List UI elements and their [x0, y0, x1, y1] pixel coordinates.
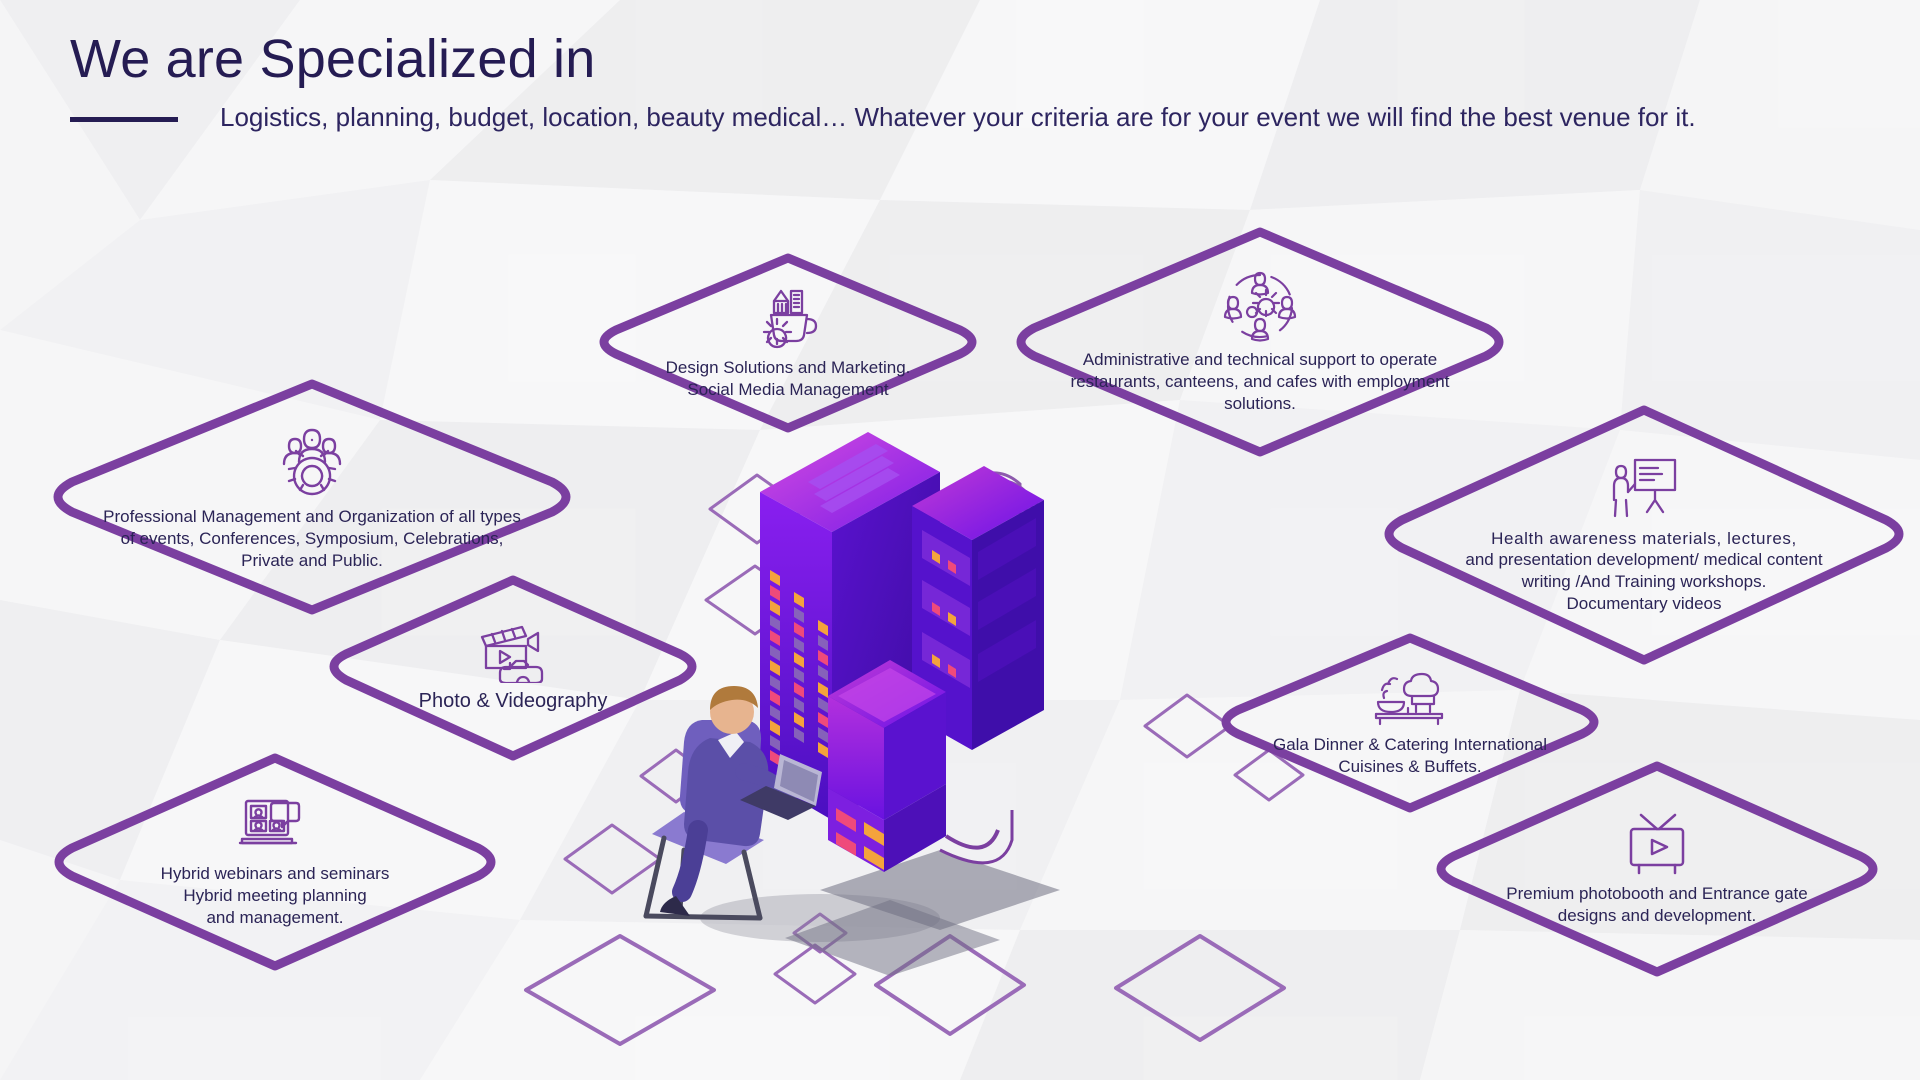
people-gear-icon: [273, 422, 351, 500]
clapperboard-camera-icon: [476, 621, 550, 683]
card-content: Premium photobooth and Entrance gate des…: [1422, 811, 1892, 927]
card-line: and management.: [206, 907, 343, 929]
title-rule: [70, 117, 178, 122]
card-line: Gala Dinner & Catering International: [1273, 734, 1547, 756]
card-line: Cuisines & Buffets.: [1338, 756, 1481, 778]
card-design-solutions[interactable]: Design Solutions and Marketing. Social M…: [588, 248, 988, 438]
subtitle-row: Logistics, planning, budget, location, b…: [70, 103, 1696, 132]
card-line: of events, Conferences, Symposium, Celeb…: [121, 528, 504, 550]
people-circle-gears-icon: [1221, 269, 1299, 343]
card-content: Hybrid webinars and seminars Hybrid meet…: [40, 795, 510, 928]
card-line: Administrative and technical support to …: [1083, 349, 1437, 371]
subtitle: Logistics, planning, budget, location, b…: [220, 103, 1696, 132]
card-premium-photobooth[interactable]: Premium photobooth and Entrance gate des…: [1422, 756, 1892, 982]
card-line: Health awareness materials, lectures,: [1491, 528, 1797, 550]
page-title: We are Specialized in: [70, 30, 1696, 89]
card-line: and presentation development/ medical co…: [1465, 549, 1822, 571]
card-line: Professional Management and Organization…: [103, 506, 521, 528]
card-line: Hybrid webinars and seminars: [161, 863, 390, 885]
card-line: Documentary videos: [1567, 593, 1722, 615]
card-line: Private and Public.: [241, 550, 383, 572]
chef-buffet-icon: [1374, 668, 1446, 728]
card-line: writing /And Training workshops.: [1522, 571, 1767, 593]
card-line: Social Media Management: [687, 379, 888, 401]
card-content: Gala Dinner & Catering International Cui…: [1210, 668, 1610, 778]
tv-play-icon: [1621, 811, 1693, 877]
card-content: Professional Management and Organization…: [32, 422, 592, 571]
card-content: Design Solutions and Marketing. Social M…: [588, 285, 988, 401]
card-hybrid-webinars[interactable]: Hybrid webinars and seminars Hybrid meet…: [40, 748, 510, 976]
card-content: Health awareness materials, lectures, an…: [1368, 456, 1920, 615]
card-photo-videography[interactable]: Photo & Videography: [318, 570, 708, 766]
card-content: Administrative and technical support to …: [1000, 269, 1520, 414]
isometric-data-center-with-person: [640, 420, 1220, 980]
card-line: solutions.: [1224, 393, 1296, 415]
card-line: designs and development.: [1558, 905, 1756, 927]
slide-canvas: We are Specialized in Logistics, plannin…: [0, 0, 1920, 1080]
card-content: Photo & Videography: [318, 621, 708, 715]
card-line: Photo & Videography: [419, 689, 608, 715]
card-line: Design Solutions and Marketing.: [666, 357, 911, 379]
card-line: restaurants, canteens, and cafes with em…: [1071, 371, 1450, 393]
design-tools-cup-gear-icon: [755, 285, 821, 351]
card-line: Hybrid meeting planning: [183, 885, 366, 907]
header: We are Specialized in Logistics, plannin…: [70, 30, 1696, 132]
laptop-videocall-icon: [238, 795, 312, 857]
presenter-board-icon: [1609, 456, 1679, 522]
card-line: Premium photobooth and Entrance gate: [1506, 883, 1807, 905]
